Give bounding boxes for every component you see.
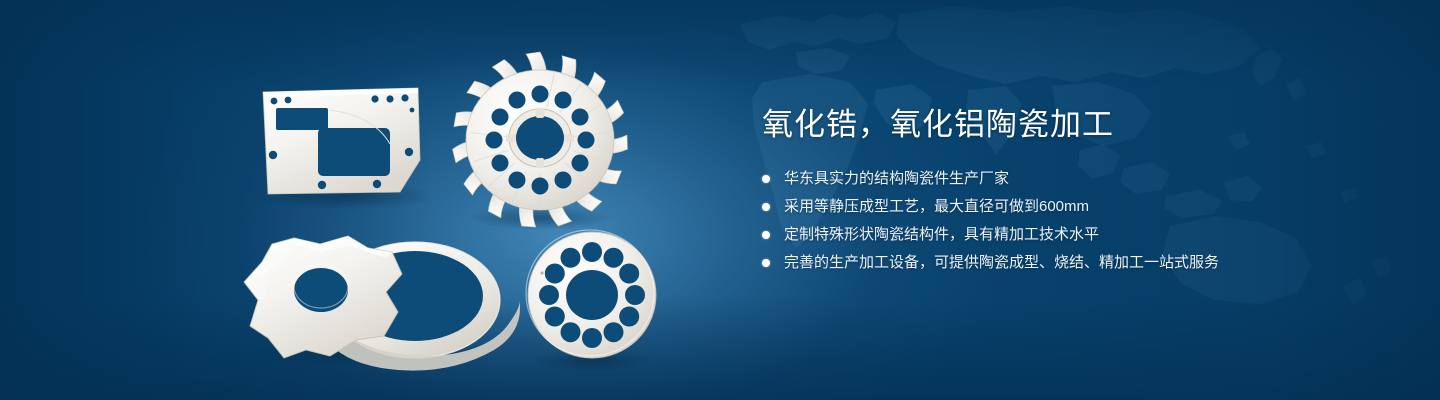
list-item: 完善的生产加工设备，可提供陶瓷成型、烧结、精加工一站式服务 (762, 252, 1382, 274)
list-item-label: 完善的生产加工设备，可提供陶瓷成型、烧结、精加工一站式服务 (784, 254, 1219, 271)
bullet-dot-icon (762, 231, 770, 239)
page-title: 氧化锆，氧化铝陶瓷加工 (762, 104, 1382, 146)
feature-list: 华东具实力的结构陶瓷件生产厂家 采用等静压成型工艺，最大直径可做到600mm 定… (762, 168, 1382, 274)
list-item-label: 定制特殊形状陶瓷结构件，具有精加工技术水平 (784, 226, 1099, 243)
bullet-dot-icon (762, 203, 770, 211)
list-item: 华东具实力的结构陶瓷件生产厂家 (762, 168, 1382, 190)
hero-banner: 氧化锆，氧化铝陶瓷加工 华东具实力的结构陶瓷件生产厂家 采用等静压成型工艺，最大… (0, 0, 1440, 400)
bullet-dot-icon (762, 175, 770, 183)
list-item: 采用等静压成型工艺，最大直径可做到600mm (762, 196, 1382, 218)
list-item-label: 华东具实力的结构陶瓷件生产厂家 (784, 170, 1009, 187)
list-item: 定制特殊形状陶瓷结构件，具有精加工技术水平 (762, 224, 1382, 246)
ceramic-machined-plate (252, 88, 436, 210)
bullet-dot-icon (762, 259, 770, 267)
banner-copy: 氧化锆，氧化铝陶瓷加工 华东具实力的结构陶瓷件生产厂家 采用等静压成型工艺，最大… (762, 104, 1382, 280)
product-photo-cluster (0, 0, 720, 400)
ceramic-impeller-rotor (452, 52, 629, 230)
list-item-label: 采用等静压成型工艺，最大直径可做到600mm (784, 198, 1089, 215)
ceramic-perforated-disc (526, 230, 656, 372)
ceramic-cross-and-ring (244, 236, 520, 371)
